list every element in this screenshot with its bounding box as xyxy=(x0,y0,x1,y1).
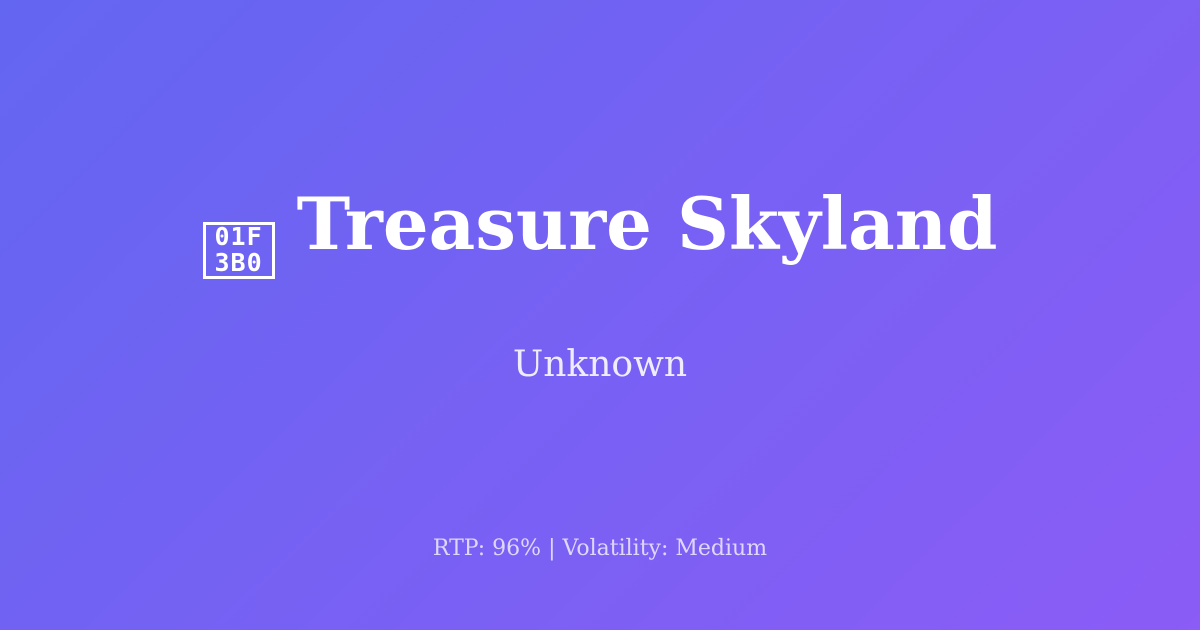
slot-machine-icon-codepoint-top: 01F xyxy=(215,224,263,250)
slot-machine-icon-codepoint-bottom: 3B0 xyxy=(215,250,263,276)
title-row: 01F 3B0 Treasure Skyland xyxy=(203,184,998,283)
game-meta-stats: RTP: 96% | Volatility: Medium xyxy=(0,536,1200,562)
game-provider: Unknown xyxy=(513,343,687,386)
game-title: Treasure Skyland xyxy=(297,184,998,263)
slot-machine-icon: 01F 3B0 xyxy=(203,222,275,279)
game-share-card: 01F 3B0 Treasure Skyland Unknown RTP: 96… xyxy=(0,0,1200,630)
